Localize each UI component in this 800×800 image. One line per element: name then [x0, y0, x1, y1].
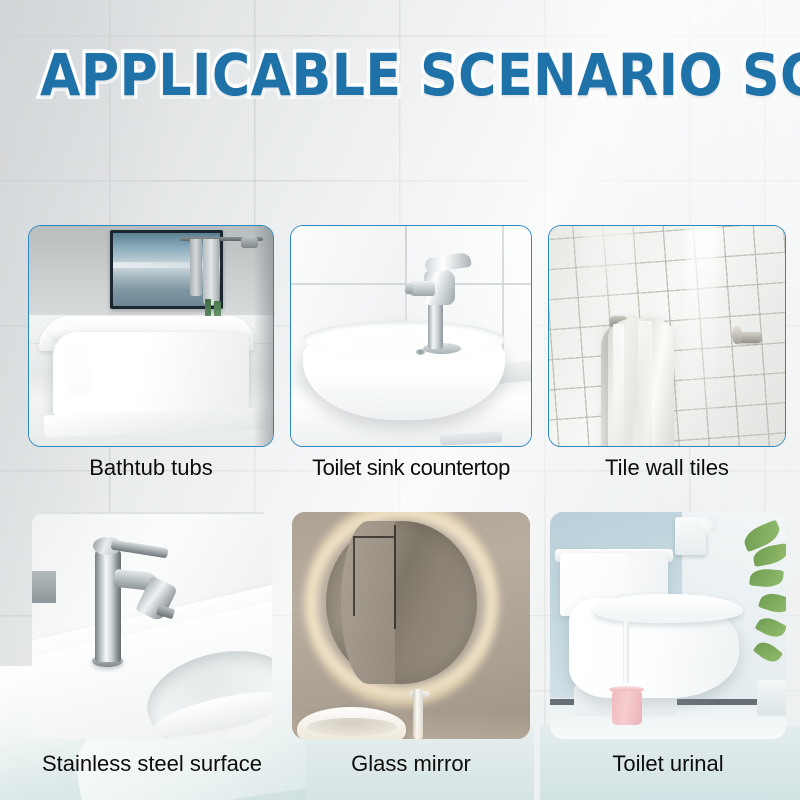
- caption-stainless-steel: Stainless steel surface: [24, 751, 280, 777]
- caption-bathtub: Bathtub tubs: [28, 455, 274, 481]
- toilet-brush-holder: [612, 691, 643, 725]
- photo-frame-stainless-steel: [33, 513, 271, 738]
- photo-sink-countertop: [291, 226, 531, 446]
- caption-wall-tiles: Tile wall tiles: [548, 455, 786, 481]
- scenario-card-wall-tiles[interactable]: Tile wall tiles: [548, 225, 786, 490]
- photo-frame-wall-tiles: [548, 225, 786, 447]
- infographic-page: APPLICABLE SCENARIO SCOPE Bathtub tub: [0, 0, 800, 800]
- scenario-card-bathtub[interactable]: Bathtub tubs: [28, 225, 274, 490]
- photo-wall-tiles: [549, 226, 785, 446]
- caption-toilet-urinal: Toilet urinal: [551, 751, 785, 777]
- scenario-card-sink-countertop[interactable]: Toilet sink countertop: [290, 225, 532, 490]
- scenario-card-glass-mirror[interactable]: Glass mirror: [293, 513, 529, 793]
- caption-sink-countertop: Toilet sink countertop: [290, 455, 532, 481]
- hanging-towel: [608, 318, 674, 446]
- photo-stainless-steel: [32, 512, 271, 738]
- photo-glass-mirror: [292, 512, 529, 738]
- photo-frame-glass-mirror: [293, 513, 529, 738]
- caption-glass-mirror: Glass mirror: [293, 751, 529, 777]
- photo-frame-toilet-urinal: [551, 513, 785, 738]
- faucet-icon: [95, 549, 121, 662]
- photo-frame-sink-countertop: [290, 225, 532, 447]
- wall-hook-icon: [735, 332, 761, 343]
- scenario-grid: Bathtub tubs Toilet sink countertop: [0, 0, 800, 800]
- photo-frame-bathtub: [28, 225, 274, 447]
- photo-toilet-urinal: [550, 512, 785, 738]
- photo-bathtub: [29, 226, 273, 446]
- scenario-card-stainless-steel[interactable]: Stainless steel surface: [33, 513, 271, 793]
- scenario-card-toilet-urinal[interactable]: Toilet urinal: [551, 513, 785, 793]
- round-mirror: [326, 521, 478, 684]
